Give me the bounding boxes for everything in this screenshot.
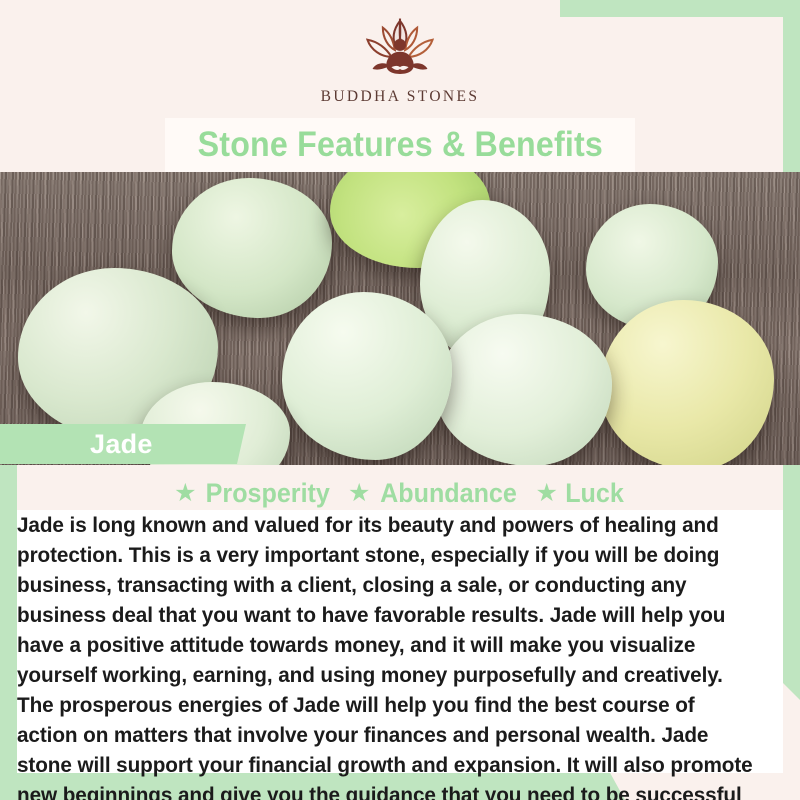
brand-name: BUDDHA STONES (321, 88, 480, 106)
page-title: Stone Features & Benefits (197, 125, 602, 165)
description-text: Jade is long known and valued for its be… (17, 510, 758, 800)
jade-stones-photo (0, 172, 800, 465)
keyword-prosperity: ★ Prosperity (174, 478, 335, 509)
keyword-label: Abundance (381, 478, 518, 509)
lotus-meditation-icon (348, 14, 452, 86)
star-icon: ★ (535, 481, 557, 506)
jade-stone (600, 300, 774, 465)
stone-benefits-infographic: BUDDHA STONES Stone Features & Benefits … (0, 0, 800, 800)
stone-name-band: Jade (0, 424, 246, 464)
jade-stone (436, 314, 612, 465)
keyword-abundance: ★ Abundance (348, 478, 522, 509)
keyword-luck: ★ Luck (535, 478, 625, 509)
jade-stone (172, 178, 332, 318)
stone-name-label: Jade (90, 429, 153, 460)
keyword-label: Luck (565, 478, 624, 509)
star-icon: ★ (174, 481, 196, 506)
title-banner: Stone Features & Benefits (165, 118, 635, 172)
benefit-keywords: ★ Prosperity ★ Abundance ★ Luck (0, 478, 800, 509)
brand-header: BUDDHA STONES (0, 0, 800, 118)
keyword-label: Prosperity (206, 478, 330, 509)
jade-stone (282, 292, 452, 460)
star-icon: ★ (348, 481, 370, 506)
